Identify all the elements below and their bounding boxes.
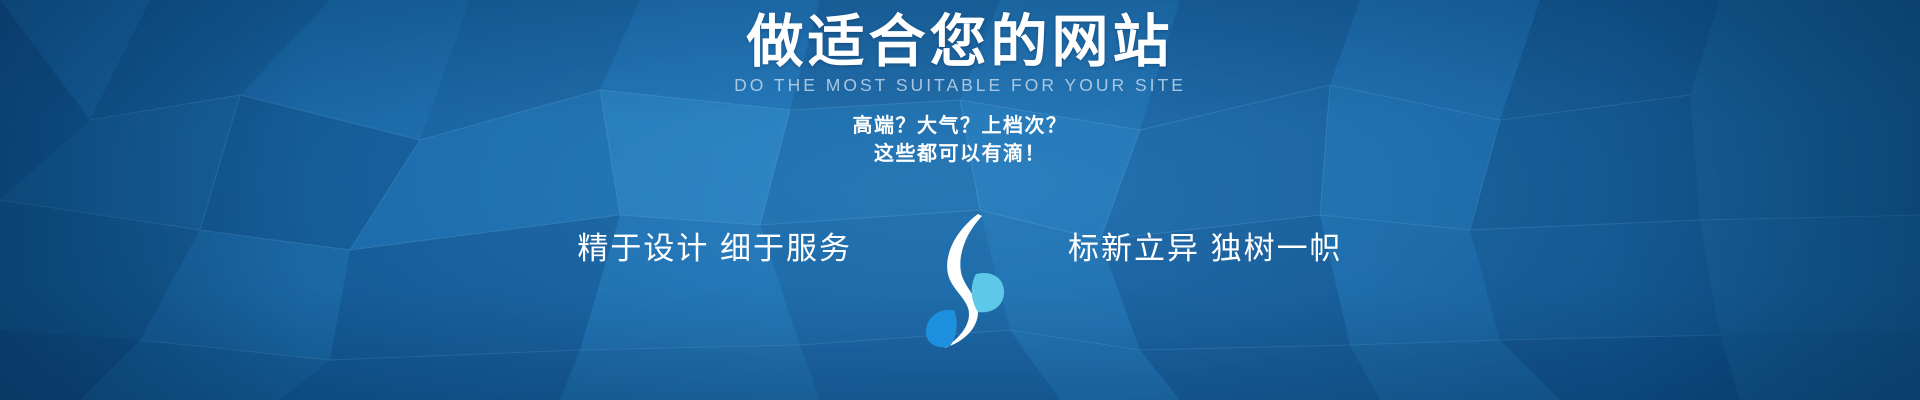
slogan-row: 精于设计 细于服务 标新立异 独树一帜 [0,178,1920,318]
banner-tagline: 高端？大气？上档次？ 这些都可以有滴！ [853,112,1068,169]
leaf-swoosh-logo-icon [908,212,1012,352]
slogan-right: 标新立异 独树一帜 [1068,233,1343,264]
banner-subheadline: DO THE MOST SUITABLE FOR YOUR SITE [734,76,1186,95]
tagline-line-1: 高端？大气？上档次？ [853,112,1068,140]
tagline-line-2: 这些都可以有滴！ [853,140,1068,168]
banner-headline: 做适合您的网站 [747,12,1174,74]
slogan-left: 精于设计 细于服务 [577,233,852,264]
hero-banner: 做适合您的网站 DO THE MOST SUITABLE FOR YOUR SI… [0,0,1920,400]
